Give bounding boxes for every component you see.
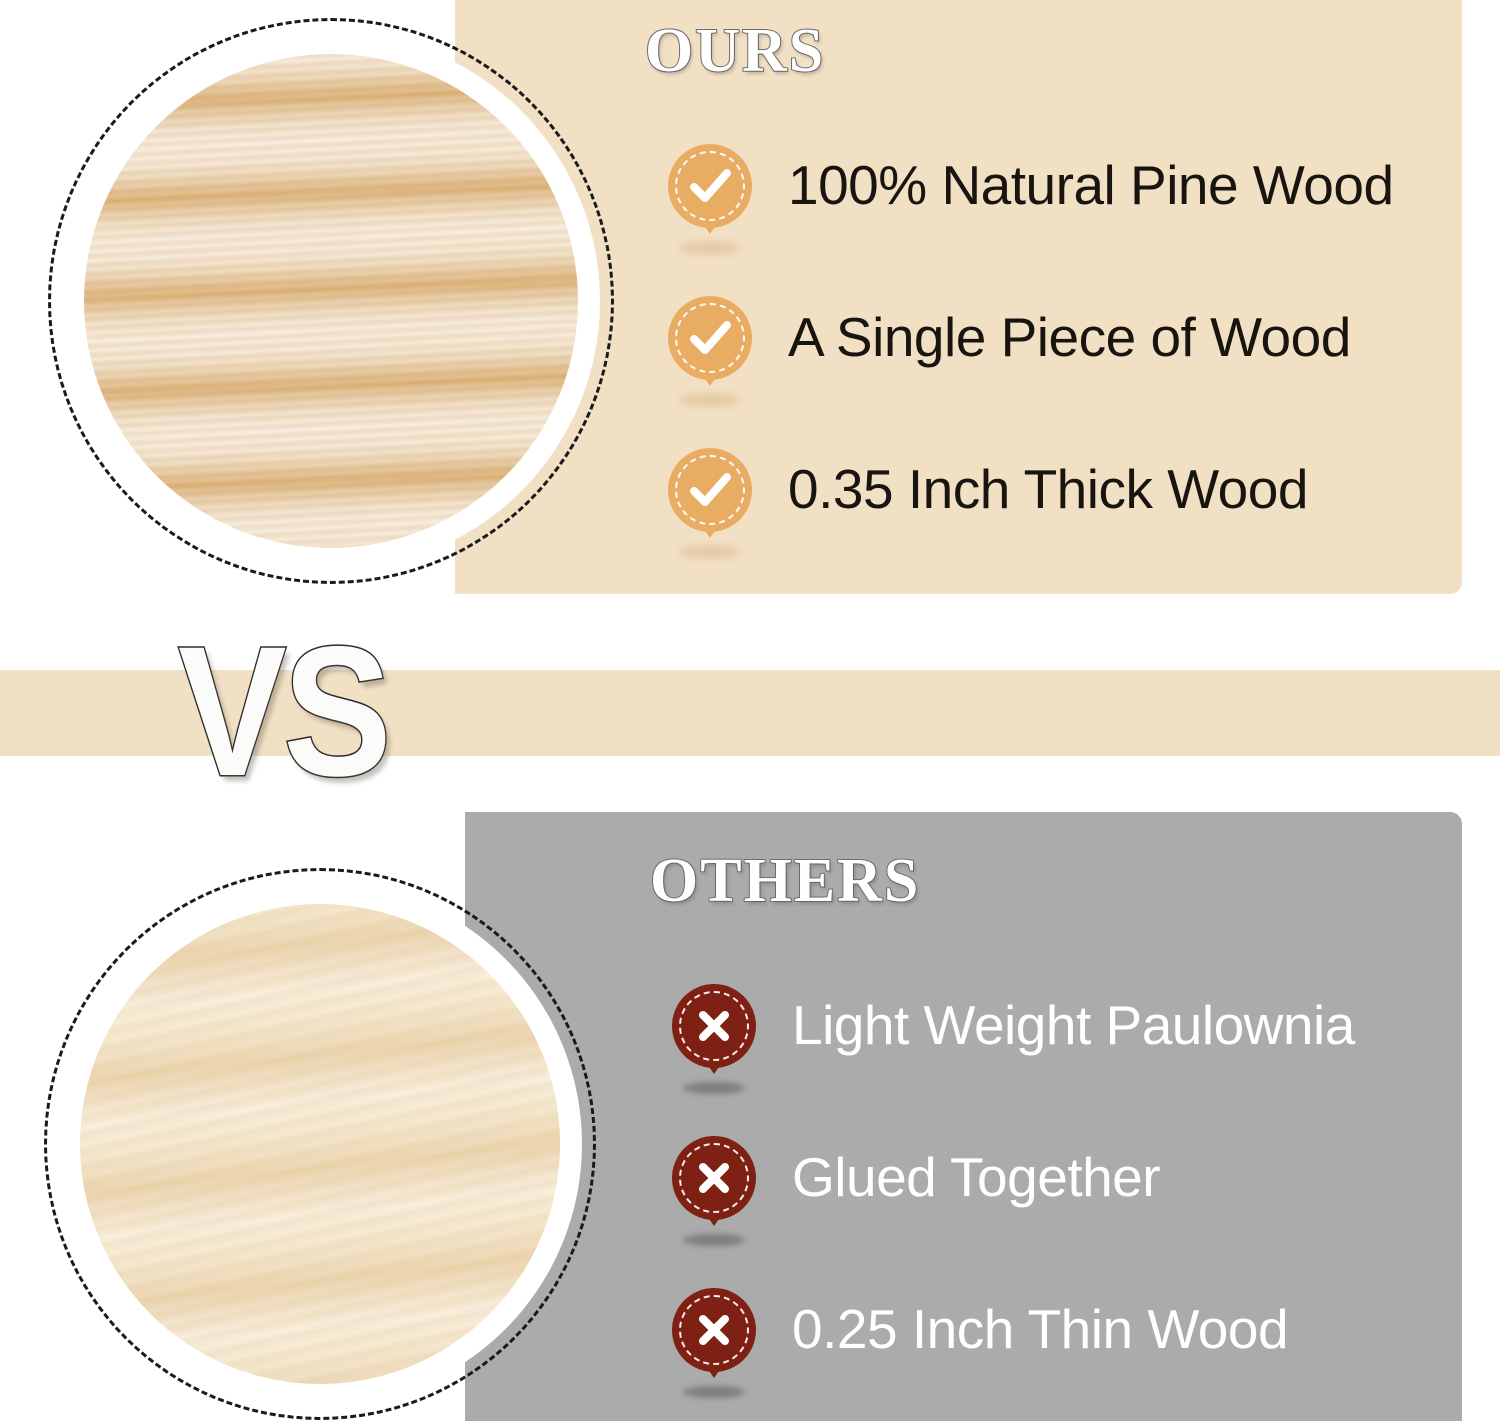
others-wood-disc-image bbox=[44, 868, 596, 1420]
list-item: Light Weight Paulownia bbox=[672, 950, 1462, 1102]
list-item: 100% Natural Pine Wood bbox=[668, 110, 1458, 262]
cross-glyph bbox=[687, 1303, 741, 1357]
feature-label: 100% Natural Pine Wood bbox=[788, 157, 1394, 215]
badge-circle bbox=[672, 1136, 756, 1220]
feature-label: Glued Together bbox=[792, 1149, 1160, 1207]
badge-circle bbox=[668, 448, 752, 532]
check-icon bbox=[668, 296, 752, 380]
feature-label: 0.25 Inch Thin Wood bbox=[792, 1301, 1288, 1359]
others-heading: OTHERS bbox=[650, 846, 920, 917]
vs-label: VS bbox=[178, 620, 388, 805]
comparison-infographic: OURS 100% Natural Pine Wood bbox=[0, 0, 1500, 1421]
ours-wood-disc-image bbox=[48, 18, 614, 584]
badge-shadow bbox=[683, 1386, 745, 1398]
ours-heading: OURS bbox=[645, 16, 825, 87]
cross-glyph bbox=[687, 999, 741, 1053]
feature-label: A Single Piece of Wood bbox=[788, 309, 1351, 367]
check-glyph bbox=[683, 463, 737, 517]
check-icon bbox=[668, 144, 752, 228]
badge-circle bbox=[668, 144, 752, 228]
badge-shadow bbox=[679, 394, 741, 406]
list-item: Glued Together bbox=[672, 1102, 1462, 1254]
cross-icon bbox=[672, 1288, 756, 1372]
check-glyph bbox=[683, 311, 737, 365]
check-glyph bbox=[683, 159, 737, 213]
pine-wood-grain bbox=[84, 54, 578, 548]
feature-label: Light Weight Paulownia bbox=[792, 997, 1355, 1055]
cross-icon bbox=[672, 1136, 756, 1220]
ours-feature-list: 100% Natural Pine Wood A Single Piece of… bbox=[668, 110, 1458, 566]
list-item: A Single Piece of Wood bbox=[668, 262, 1458, 414]
check-icon bbox=[668, 448, 752, 532]
cross-icon bbox=[672, 984, 756, 1068]
badge-circle bbox=[672, 1288, 756, 1372]
paulownia-wood-grain bbox=[80, 904, 560, 1384]
list-item: 0.25 Inch Thin Wood bbox=[672, 1254, 1462, 1406]
others-feature-list: Light Weight Paulownia Glued Together bbox=[672, 950, 1462, 1406]
badge-shadow bbox=[683, 1082, 745, 1094]
badge-shadow bbox=[679, 242, 741, 254]
feature-label: 0.35 Inch Thick Wood bbox=[788, 461, 1308, 519]
list-item: 0.35 Inch Thick Wood bbox=[668, 414, 1458, 566]
badge-circle bbox=[672, 984, 756, 1068]
badge-circle bbox=[668, 296, 752, 380]
badge-shadow bbox=[679, 546, 741, 558]
cross-glyph bbox=[687, 1151, 741, 1205]
badge-shadow bbox=[683, 1234, 745, 1246]
